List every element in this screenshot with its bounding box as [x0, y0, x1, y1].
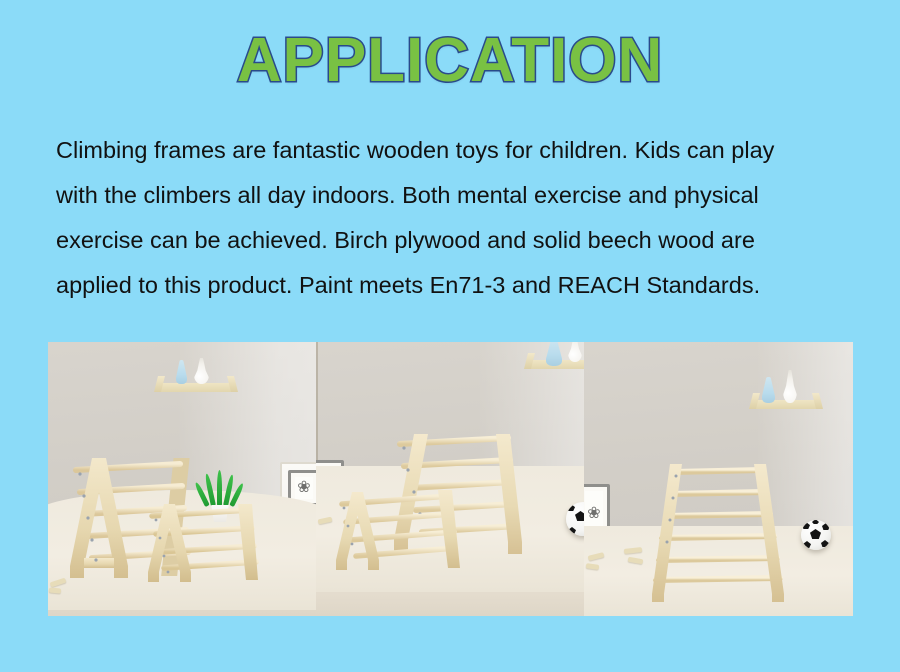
climbing-frame — [652, 460, 784, 608]
soccer-ball — [801, 520, 831, 550]
picture-frame-art: ❀ — [295, 477, 313, 499]
wall-shelf — [158, 383, 234, 392]
soccer-ball-patch — [568, 527, 576, 534]
soccer-ball-patch — [812, 520, 819, 524]
soccer-ball — [566, 502, 584, 536]
soccer-ball-patch — [810, 529, 821, 539]
plant-leaves — [203, 470, 237, 506]
description-line-2: with the climbers all day indoors. Both … — [56, 173, 856, 218]
description-line-1: Climbing frames are fantastic wooden toy… — [56, 128, 856, 173]
gallery-photo-1[interactable]: ❀ — [48, 342, 316, 616]
description-line-3: exercise can be achieved. Birch plywood … — [56, 218, 856, 263]
small-climbing-frame — [142, 502, 267, 592]
description-paragraph: Climbing frames are fantastic wooden toy… — [56, 128, 856, 308]
page-title: APPLICATION — [0, 26, 900, 96]
product-photo-gallery: ❀ — [48, 342, 853, 616]
gallery-photo-3[interactable]: ❀ — [584, 342, 853, 616]
soccer-ball-patch — [803, 541, 811, 548]
small-climbing-frame — [332, 488, 472, 580]
soccer-ball-patch — [575, 511, 584, 521]
application-section: APPLICATION Climbing frames are fantasti… — [0, 0, 900, 672]
description-line-4: applied to this product. Paint meets En7… — [56, 263, 856, 308]
gallery-photo-2[interactable]: ❀ — [316, 342, 584, 616]
